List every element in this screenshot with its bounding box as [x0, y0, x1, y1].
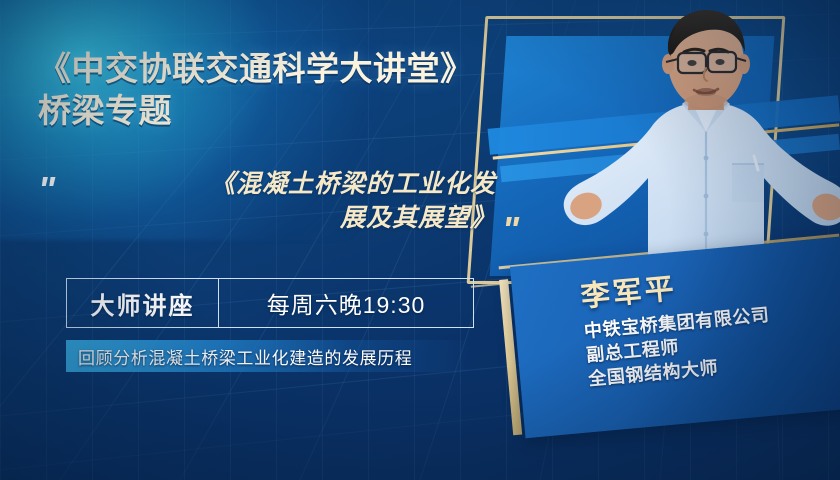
poster-canvas: 《中交协联交通科学大讲堂》 桥梁专题 " 《混凝土桥梁的工业化发 展及其展望》 …	[0, 0, 840, 480]
vignette-overlay	[0, 0, 840, 480]
